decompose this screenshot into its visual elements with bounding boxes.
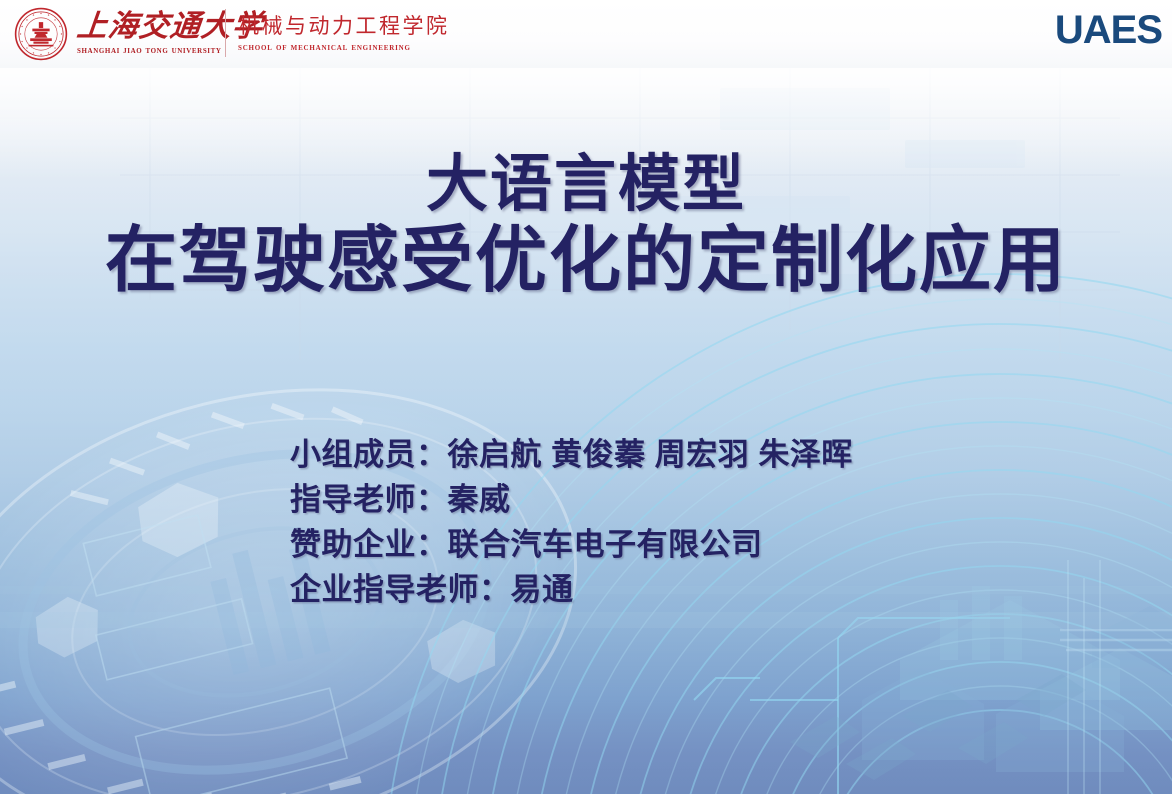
title-slide: 上海交通大学 Shanghai Jiao Tong University 机械与… bbox=[0, 0, 1172, 794]
title-line-1: 大语言模型 bbox=[0, 152, 1172, 219]
title-line-2: 在驾驶感受优化的定制化应用 bbox=[0, 223, 1172, 301]
sjtu-name-cn: 上海交通大学 bbox=[75, 12, 264, 42]
info-line-sponsor: 赞助企业：联合汽车电子有限公司 bbox=[290, 522, 853, 567]
logo-divider bbox=[225, 9, 226, 57]
info-line-members: 小组成员：徐启航 黄俊蓁 周宏羽 朱泽晖 bbox=[290, 432, 853, 477]
school-name-cn: 机械与动力工程学院 bbox=[238, 16, 450, 37]
sjtu-name-group: 上海交通大学 Shanghai Jiao Tong University bbox=[77, 12, 263, 57]
info-block: 小组成员：徐启航 黄俊蓁 周宏羽 朱泽晖 指导老师：秦威 赞助企业：联合汽车电子… bbox=[290, 432, 853, 612]
title-block: 大语言模型 在驾驶感受优化的定制化应用 bbox=[0, 152, 1172, 301]
background-decoration bbox=[0, 0, 1172, 794]
sjtu-name-en: Shanghai Jiao Tong University bbox=[77, 46, 263, 57]
school-name-en: School of Mechanical Engineering bbox=[238, 43, 450, 53]
uaes-logo: UAES bbox=[1055, 10, 1162, 50]
info-line-advisor: 指导老师：秦威 bbox=[290, 477, 853, 522]
school-name-group: 机械与动力工程学院 School of Mechanical Engineeri… bbox=[238, 4, 450, 64]
slide-header: 上海交通大学 Shanghai Jiao Tong University 机械与… bbox=[0, 0, 1172, 68]
info-line-company-advisor: 企业指导老师：易通 bbox=[290, 567, 853, 612]
sjtu-seal-icon bbox=[14, 7, 68, 61]
